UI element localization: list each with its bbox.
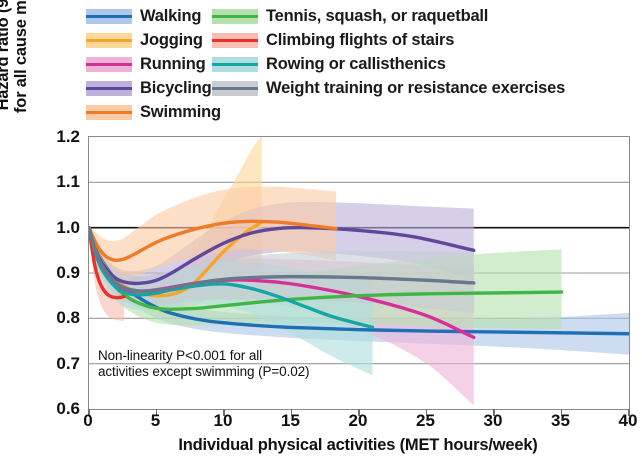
legend-swatch-icon (212, 9, 258, 24)
legend-line (86, 39, 132, 42)
legend-item-label: Weight training or resistance exercises (266, 80, 565, 97)
legend-item[interactable]: Swimming (86, 100, 214, 124)
legend-line (212, 15, 258, 18)
legend-column-2: Tennis, squash, or raquetballClimbing fl… (212, 4, 642, 100)
legend-item-label: Rowing or callisthenics (266, 56, 446, 73)
legend-item-label: Jogging (140, 32, 203, 49)
annotation-text: Non-linearity P<0.001 for all activities… (98, 348, 358, 381)
x-axis-tick-label: 20 (340, 411, 376, 431)
y-axis-title-line2: for all cause mortality (12, 0, 30, 150)
y-axis-tick-label: 0.8 (34, 308, 80, 328)
legend-swatch-icon (86, 105, 132, 120)
y-axis-tick-label: 0.9 (34, 263, 80, 283)
chart-legend: WalkingJoggingRunningBicyclingSwimming T… (86, 4, 638, 122)
legend-item[interactable]: Climbing flights of stairs (212, 28, 642, 52)
x-axis-tick-label: 5 (138, 411, 174, 431)
annotation-line-2: activities except swimming (P=0.02) (98, 364, 358, 380)
x-axis-tick-label: 10 (205, 411, 241, 431)
x-axis-tick-label: 40 (610, 411, 642, 431)
legend-item[interactable]: Bicycling (86, 76, 214, 100)
legend-item-label: Climbing flights of stairs (266, 32, 454, 49)
x-axis-tick-label: 0 (70, 411, 106, 431)
legend-line (86, 63, 132, 66)
annotation-line-1: Non-linearity P<0.001 for all (98, 348, 358, 364)
legend-swatch-icon (86, 9, 132, 24)
x-axis-tick-label: 35 (543, 411, 579, 431)
legend-item-label: Walking (140, 8, 201, 25)
x-axis-tick-label: 15 (273, 411, 309, 431)
legend-column-1: WalkingJoggingRunningBicyclingSwimming (86, 4, 214, 124)
legend-item[interactable]: Weight training or resistance exercises (212, 76, 642, 100)
x-axis-tick-label: 25 (408, 411, 444, 431)
legend-line (86, 15, 132, 18)
y-axis-tick-label: 1.1 (34, 172, 80, 192)
legend-item[interactable]: Walking (86, 4, 214, 28)
legend-line (212, 63, 258, 66)
legend-swatch-icon (86, 33, 132, 48)
legend-item[interactable]: Jogging (86, 28, 214, 52)
legend-swatch-icon (212, 57, 258, 72)
chart-figure: WalkingJoggingRunningBicyclingSwimming T… (0, 0, 642, 465)
legend-line (212, 39, 258, 42)
legend-item-label: Tennis, squash, or raquetball (266, 8, 488, 25)
legend-swatch-icon (212, 33, 258, 48)
legend-swatch-icon (86, 81, 132, 96)
legend-item[interactable]: Rowing or callisthenics (212, 52, 642, 76)
legend-line (86, 87, 132, 90)
legend-item[interactable]: Tennis, squash, or raquetball (212, 4, 642, 28)
legend-item[interactable]: Running (86, 52, 214, 76)
y-axis-tick-label: 1.2 (34, 127, 80, 147)
legend-line (86, 111, 132, 114)
legend-swatch-icon (86, 57, 132, 72)
y-axis-tick-label: 0.7 (34, 354, 80, 374)
x-axis-title: Individual physical activities (MET hour… (88, 436, 628, 455)
legend-item-label: Running (140, 56, 206, 73)
x-axis-tick-label: 30 (475, 411, 511, 431)
legend-swatch-icon (212, 81, 258, 96)
y-axis-tick-label: 1.0 (34, 218, 80, 238)
legend-item-label: Swimming (140, 104, 221, 121)
legend-item-label: Bicycling (140, 80, 212, 97)
y-axis-title-line1: Hazard ratio (95% CI) (0, 0, 12, 150)
legend-line (212, 87, 258, 90)
y-axis-title: Hazard ratio (95% CI) for all cause mort… (0, 0, 31, 150)
